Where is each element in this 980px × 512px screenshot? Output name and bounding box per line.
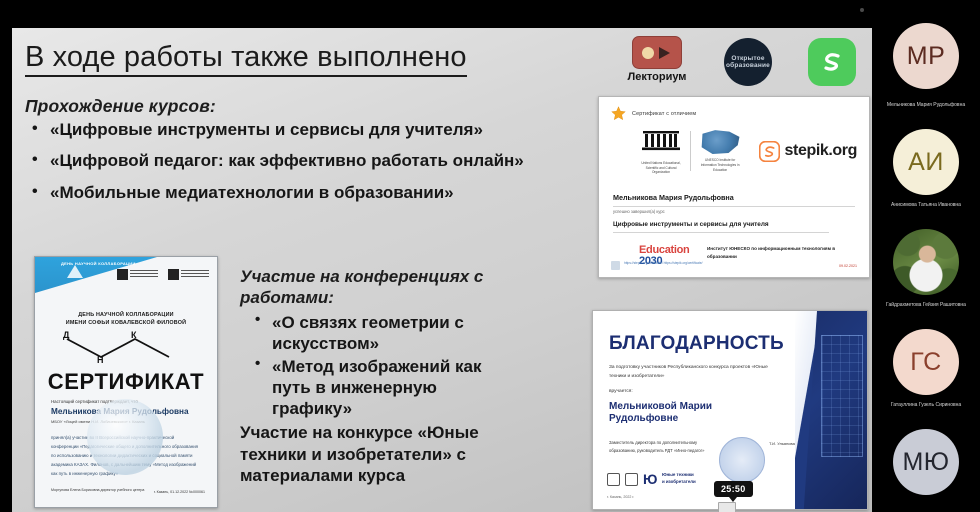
avatar: ГС — [893, 329, 959, 395]
courses-list: «Цифровые инструменты и сервисы для учит… — [30, 120, 610, 214]
avatar-initials: МЮ — [902, 448, 949, 477]
cert-event-line2: ИМЕНИ СОФЬИ КОВАЛЕВСКОЙ ФИЛОВОЙ — [66, 320, 186, 326]
participant-tile[interactable]: Гайдрахметова Гейзия Рашитовна — [872, 212, 980, 312]
cert-left-logos — [117, 269, 209, 280]
avatar: АИ — [893, 129, 959, 195]
participant-name: Анисимова Татьяна Ивановна — [872, 202, 980, 208]
avatar: МР — [893, 23, 959, 89]
gratitude-signer-name: Т.И. Ульянова — [769, 441, 795, 446]
list-item: «О связях геометрии с искусством» — [252, 312, 502, 354]
cert-banner-triangle-icon — [67, 265, 83, 278]
cert-stepik-logos: United Nations Educational, Scientific a… — [639, 127, 857, 175]
openedu-line1: Открытое — [731, 55, 764, 62]
list-item: «Цифровые инструменты и сервисы для учит… — [30, 120, 610, 140]
gratitude-for-text: За подготовку участников Республиканског… — [609, 363, 769, 382]
unesco-logo: United Nations Educational, Scientific a… — [639, 127, 683, 176]
unesco-caption: United Nations Educational, Scientific a… — [639, 161, 683, 176]
conferences-heading: Участие на конференциях с работами: — [240, 266, 502, 309]
cert-stepik-top-label: Сертификат с отличием — [632, 111, 696, 117]
svg-text:Н: Н — [97, 355, 104, 363]
avatar-initials: ГС — [910, 348, 941, 377]
lektorium-logo: Лекториум — [620, 36, 694, 83]
avatar-initials: МР — [907, 42, 946, 71]
participant-name: Мельникова Мария Рудольфовна — [872, 102, 980, 108]
presentation-slide[interactable]: В ходе работы также выполнено Прохождени… — [12, 28, 872, 512]
gratitude-bottom-logos: Ю Юные техники и изобретатели — [607, 471, 696, 487]
avatar: МЮ — [893, 429, 959, 495]
svg-text:Д: Д — [63, 331, 70, 340]
partner-logos: Лекториум Открытое образование — [612, 36, 867, 94]
svg-text:К: К — [131, 331, 137, 340]
participant-name: Гатауллина Гузель Сириновна — [872, 402, 980, 408]
cert-stepik-iite-text: Институт ЮНЕСКО по информационным технол… — [707, 245, 859, 261]
emblem-icon — [607, 473, 620, 486]
cert-left-signature: Моргунова Елена Борисовна директор учебн… — [51, 487, 144, 493]
institute-mark-icon — [117, 269, 128, 280]
cert-stepik-course: Цифровые инструменты и сервисы для учите… — [613, 221, 829, 233]
unesco-temple-icon — [639, 127, 683, 153]
gratitude-date: г. Казань, 2022 г. — [607, 495, 634, 499]
university-text-lines — [181, 270, 209, 279]
official-stamp-icon — [719, 437, 765, 483]
conferences-block: Участие на конференциях с работами: «О с… — [240, 266, 502, 487]
logo-divider — [690, 131, 691, 171]
stepik-mark-icon — [759, 141, 780, 162]
list-item: «Мобильные медиатехнологии в образовании… — [30, 183, 610, 203]
cert-banner-text: ДЕНЬ НАУЧНОЙ КОЛЛАБОРАЦИИ — [61, 261, 136, 266]
gratitude-side-graphic — [795, 311, 867, 509]
cert-event-name: ДЕНЬ НАУЧНОЙ КОЛЛАБОРАЦИИ ИМЕНИ СОФЬИ КО… — [35, 311, 217, 327]
ministry-icon — [625, 473, 638, 486]
participant-tile[interactable]: АИ Анисимова Татьяна Ивановна — [872, 112, 980, 212]
cert-stepik-footer-text: https://stepik.org/certificate/ https://… — [624, 261, 702, 267]
shared-screen-stage[interactable]: В ходе работы также выполнено Прохождени… — [0, 0, 872, 512]
share-timer: 25:50 — [714, 481, 753, 497]
stepik-logo — [808, 38, 856, 86]
institute-logo — [117, 269, 158, 280]
university-mark-icon — [168, 269, 179, 280]
avatar-photo — [893, 229, 959, 295]
cert-left-watermark — [87, 399, 163, 475]
openedu-line2: образование — [726, 62, 770, 69]
cert-event-line1: ДЕНЬ НАУЧНОЙ КОЛЛАБОРАЦИИ — [78, 312, 173, 318]
iite-logo: UNESCO Institute for Information Technol… — [698, 129, 743, 173]
certificate-collaboration-day[interactable]: ДЕНЬ НАУЧНОЙ КОЛЛАБОРАЦИИ ДЕНЬ НАУЧНОЙ К… — [34, 256, 218, 508]
gratitude-recipient-name: Мельниковой Марии Рудольфовне — [609, 401, 759, 425]
contest-mark-line1: Юные техники — [662, 472, 696, 479]
avatar-initials: АИ — [908, 148, 944, 177]
participant-tile[interactable]: МЮ — [872, 412, 980, 512]
video-conference-window: В ходе работы также выполнено Прохождени… — [0, 0, 980, 512]
participant-tile[interactable]: МР Мельникова Мария Рудольфовна — [872, 0, 980, 112]
lektorium-logo-label: Лекториум — [620, 71, 694, 83]
lektorium-mark-icon — [632, 36, 682, 69]
institute-text-lines — [130, 270, 158, 279]
contest-participation-text: Участие на конкурсе «Юные техники и изоб… — [240, 422, 502, 487]
cert-stepik-header: Сертификат с отличием — [611, 106, 696, 121]
courses-heading: Прохождение курсов: — [25, 96, 216, 117]
participant-name: Гайдрахметова Гейзия Рашитовна — [872, 302, 980, 308]
list-item: «Метод изображений как путь в инженерную… — [252, 356, 502, 419]
yu-letter-logo: Ю — [643, 471, 657, 487]
cert-stepik-middle-label: успешно завершил(а) курс — [613, 209, 665, 214]
gratitude-title: БЛАГОДАРНОСТЬ — [609, 333, 784, 355]
iite-globe-icon — [699, 129, 741, 155]
gratitude-signer: Заместитель директора по дополнительному… — [609, 439, 717, 455]
iite-caption: UNESCO Institute for Information Technol… — [698, 158, 743, 173]
conferences-list: «О связях геометрии с искусством» «Метод… — [252, 312, 502, 419]
gratitude-awarded-label: вручается: — [609, 389, 633, 394]
contest-mark-text: Юные техники и изобретатели — [662, 472, 696, 485]
university-logo — [168, 269, 209, 280]
cert-left-title: СЕРТИФИКАТ — [35, 369, 217, 395]
cert-stepik-date: 09.02.2021 — [839, 264, 857, 268]
dnk-zigzag-logo: Д Н К — [61, 331, 193, 363]
recording-dot-icon — [860, 8, 864, 12]
stepik-org-logo: stepik.org — [759, 141, 857, 162]
screen-share-indicator-icon[interactable] — [718, 502, 736, 512]
certificate-stepik[interactable]: Сертификат с отличием — [598, 96, 870, 278]
cert-stepik-footer: https://stepik.org/certificate/ https://… — [611, 261, 702, 270]
participant-tile[interactable]: ГС Гатауллина Гузель Сириновна — [872, 312, 980, 412]
education-2030-top: Education — [639, 245, 689, 256]
cert-left-date: г. Казань, 01.12.2022 №000061 — [154, 489, 205, 495]
page-title: В ходе работы также выполнено — [25, 42, 467, 77]
star-icon — [611, 106, 626, 121]
cert-stepik-name: Мельникова Мария Рудольфовна — [613, 193, 855, 207]
openedu-logo: Открытое образование — [724, 38, 772, 86]
qr-icon — [611, 261, 620, 270]
list-item: «Цифровой педагог: как эффективно работа… — [30, 151, 610, 171]
certificate-gratitude[interactable]: БЛАГОДАРНОСТЬ За подготовку участников Р… — [592, 310, 868, 510]
stepik-mark-icon — [817, 47, 847, 77]
participant-filmstrip[interactable]: МР Мельникова Мария Рудольфовна АИ Аниси… — [872, 0, 980, 512]
stepik-org-label: stepik.org — [785, 142, 857, 160]
contest-mark-line2: и изобретатели — [662, 479, 696, 486]
